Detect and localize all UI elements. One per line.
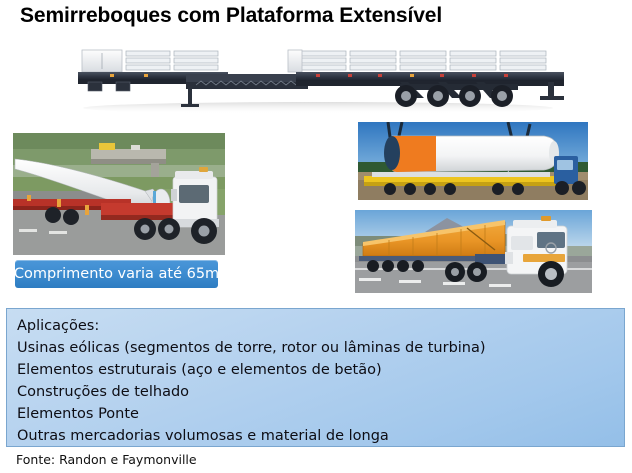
photo-bridge-girder xyxy=(355,210,592,293)
hero-trailer-image xyxy=(48,44,588,116)
length-badge-label: Comprimento varia até 65m xyxy=(14,266,219,282)
source-credit: Fonte: Randon e Faymonville xyxy=(16,452,197,467)
slide-canvas: Semirreboques com Plataforma Extensível xyxy=(0,0,632,473)
application-item-roof: Construções de telhado xyxy=(17,381,624,403)
length-badge: Comprimento varia até 65m xyxy=(15,260,218,288)
page-title: Semirreboques com Plataforma Extensível xyxy=(20,4,442,28)
application-item-structural: Elementos estruturais (aço e elementos d… xyxy=(17,359,624,381)
applications-box: Aplicações: Usinas eólicas (segmentos de… xyxy=(6,308,625,447)
application-item-wind: Usinas eólicas (segmentos de torre, roto… xyxy=(17,337,624,359)
application-item-other: Outras mercadorias volumosas e material … xyxy=(17,425,624,447)
applications-heading: Aplicações: xyxy=(17,315,624,337)
photo-turbine-tower-segment xyxy=(358,122,588,200)
application-item-bridge: Elementos Ponte xyxy=(17,403,624,425)
photo-wind-turbine-blade xyxy=(13,133,225,255)
